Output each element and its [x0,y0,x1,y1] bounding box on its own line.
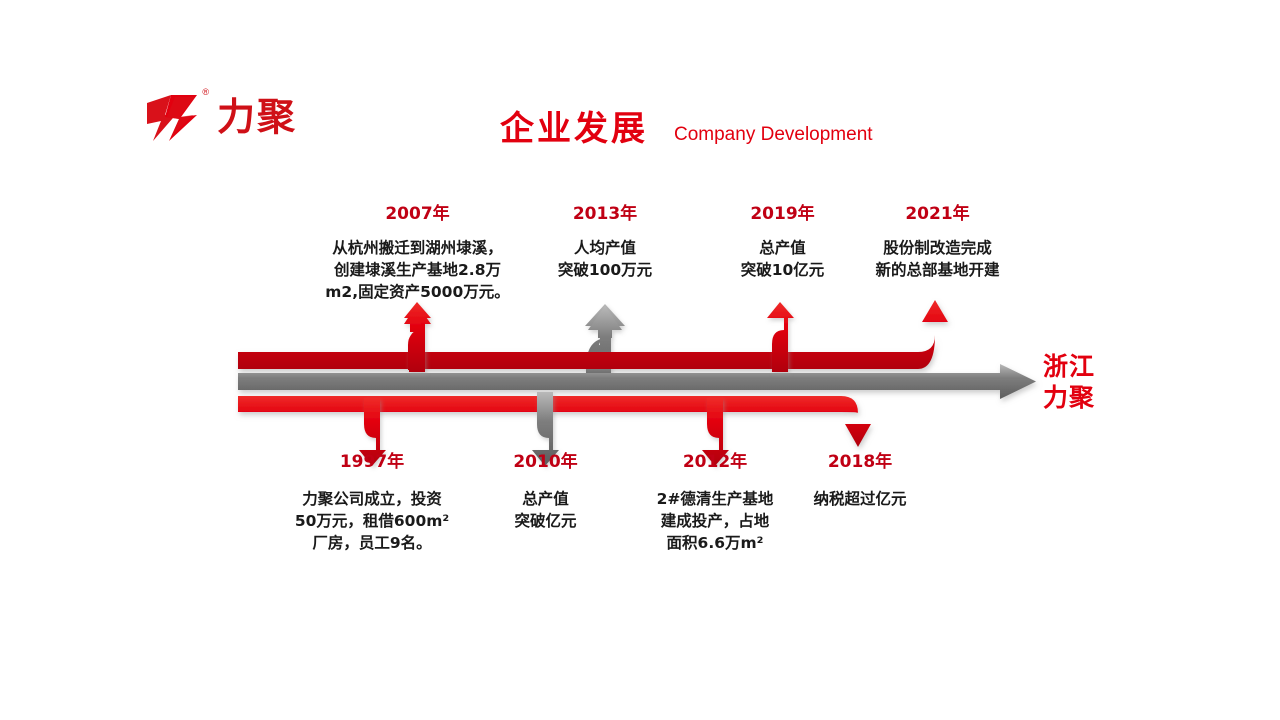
center-gray-axis [238,364,1036,399]
lightning-bolt-mark-icon: ® [145,91,207,143]
milestone-year: 2021年 [860,205,1015,224]
page-title: 企业发展 Company Development [500,112,873,146]
milestone-2019: 2019年 总产值 突破10亿元 [710,205,855,281]
milestone-2010: 2010年 总产值 突破亿元 [478,453,613,532]
upward-branches [585,304,625,384]
milestone-description: 股份制改造完成 新的总部基地开建 [860,237,1015,281]
milestone-2007: 2007年 从杭州搬迁到湖州埭溪， 创建埭溪生产基地2.8万 m2,固定资产50… [305,205,530,303]
milestone-2021: 2021年 股份制改造完成 新的总部基地开建 [860,205,1015,281]
milestone-2012: 2012年 2#德清生产基地 建成投产，占地 面积6.6万m² [640,453,790,554]
title-chinese: 企业发展 [500,112,648,146]
milestone-year: 2018年 [785,453,935,472]
timeline-end-label: 浙江 力聚 [1043,352,1095,413]
milestone-year: 2019年 [710,205,855,224]
milestone-description: 总产值 突破亿元 [478,488,613,532]
milestone-year: 2007年 [305,205,530,224]
branch-up-2019 [767,302,794,372]
milestone-description: 人均产值 突破100万元 [530,237,680,281]
logo-wordmark: 力聚 [217,98,297,136]
branch-up-2007 [404,302,431,372]
milestone-year: 2012年 [640,453,790,472]
milestone-description: 从杭州搬迁到湖州埭溪， 创建埭溪生产基地2.8万 m2,固定资产5000万元。 [305,237,530,303]
registered-trademark-icon: ® [202,88,209,97]
milestone-description: 2#德清生产基地 建成投产，占地 面积6.6万m² [640,488,790,554]
milestone-2013: 2013年 人均产值 突破100万元 [530,205,680,281]
milestone-year: 2013年 [530,205,680,224]
milestone-year: 2010年 [478,453,613,472]
lower-red-axis [238,396,871,447]
milestone-1997: 1997年 力聚公司成立，投资 50万元，租借600m² 厂房，员工9名。 [262,453,482,554]
milestone-description: 力聚公司成立，投资 50万元，租借600m² 厂房，员工9名。 [262,488,482,554]
milestone-description: 总产值 突破10亿元 [710,237,855,281]
milestone-year: 1997年 [262,453,482,472]
milestone-2018: 2018年 纳税超过亿元 [785,453,935,510]
company-logo: ® 力聚 [145,88,405,146]
upper-red-axis [238,300,948,369]
title-english: Company Development [674,125,873,146]
slide-canvas: ® 力聚 企业发展 Company Development [0,0,1280,720]
milestone-description: 纳税超过亿元 [785,488,935,510]
